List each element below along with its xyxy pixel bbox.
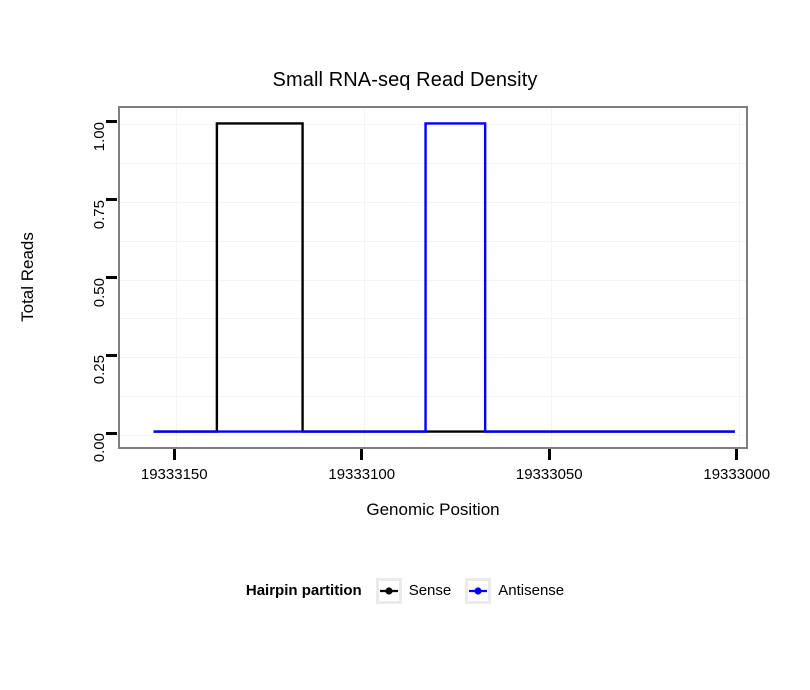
legend-key-swatch xyxy=(465,578,491,604)
y-tick-label: 0.50 xyxy=(91,278,109,326)
legend-item-sense[interactable]: Sense xyxy=(376,578,452,604)
legend-label: Antisense xyxy=(498,582,564,600)
data-lines xyxy=(120,108,746,447)
x-tick-label: 19333050 xyxy=(479,466,619,484)
legend-label: Sense xyxy=(409,582,452,600)
legend-item-antisense[interactable]: Antisense xyxy=(465,578,564,604)
x-axis-title: Genomic Position xyxy=(118,500,748,520)
chart-figure: Small RNA-seq Read Density Total Reads 0… xyxy=(0,0,810,690)
y-tick-label: 0.25 xyxy=(91,355,109,403)
legend-key-line-point-icon xyxy=(468,581,488,601)
chart-legend: Hairpin partition SenseAntisense xyxy=(0,578,810,604)
legend-title: Hairpin partition xyxy=(246,582,362,600)
chart-title: Small RNA-seq Read Density xyxy=(0,68,810,92)
x-tick-label: 19333000 xyxy=(667,466,807,484)
x-tick-label: 19333100 xyxy=(292,466,432,484)
series-line-sense xyxy=(154,123,735,431)
x-tick-label: 19333150 xyxy=(104,466,244,484)
x-tick-mark xyxy=(735,449,738,460)
legend-items: SenseAntisense xyxy=(376,578,564,604)
series-line-antisense xyxy=(154,123,735,431)
legend-key-line-point-icon xyxy=(379,581,399,601)
plot-panel xyxy=(118,106,748,449)
legend-key-swatch xyxy=(376,578,402,604)
x-tick-mark xyxy=(548,449,551,460)
y-tick-label: 0.75 xyxy=(91,200,109,248)
x-tick-mark xyxy=(360,449,363,460)
x-tick-mark xyxy=(173,449,176,460)
y-tick-label: 1.00 xyxy=(91,122,109,170)
y-axis-title: Total Reads xyxy=(18,197,38,357)
